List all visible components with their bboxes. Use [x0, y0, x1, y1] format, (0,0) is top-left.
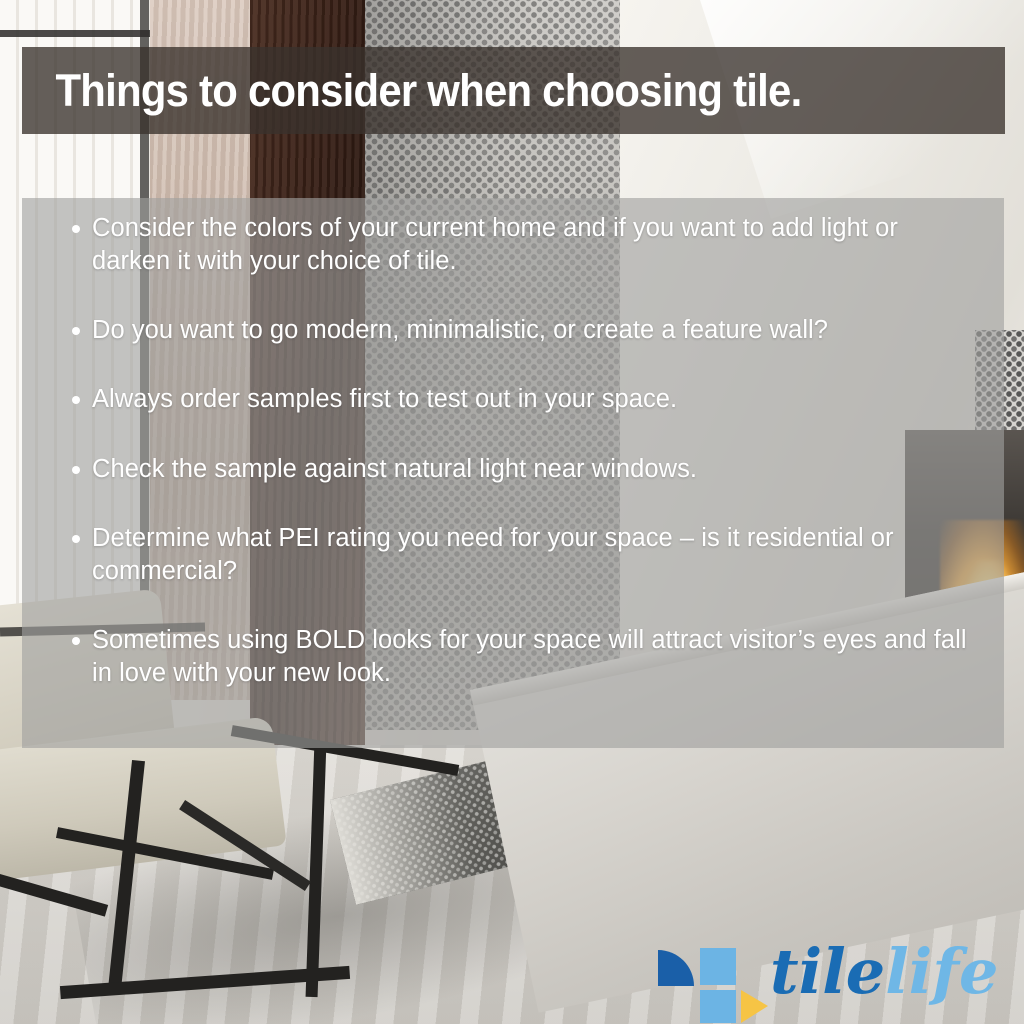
tile-blocks-icon: [648, 928, 768, 1024]
poster-canvas: Things to consider when choosing tile. C…: [0, 0, 1024, 1024]
list-item: Consider the colors of your current home…: [48, 212, 978, 278]
tile-life-logo[interactable]: tilelife: [648, 928, 1008, 1024]
list-item: Always order samples first to test out i…: [48, 383, 978, 416]
list-item: Sometimes using BOLD looks for your spac…: [48, 624, 978, 690]
list-item: Determine what PEI rating you need for y…: [48, 522, 978, 588]
list-item: Do you want to go modern, minimalistic, …: [48, 314, 978, 347]
logo-word-tile: tile: [770, 935, 885, 1008]
bg-window-frame-top: [0, 30, 150, 37]
logo-word-life: life: [885, 935, 998, 1008]
list-item: Check the sample against natural light n…: [48, 453, 978, 486]
page-title: Things to consider when choosing tile.: [22, 68, 801, 113]
title-bar: Things to consider when choosing tile.: [22, 47, 1005, 134]
tips-list: Consider the colors of your current home…: [48, 212, 978, 690]
logo-wordmark: tilelife: [770, 924, 998, 1020]
tips-panel: Consider the colors of your current home…: [22, 198, 1004, 748]
